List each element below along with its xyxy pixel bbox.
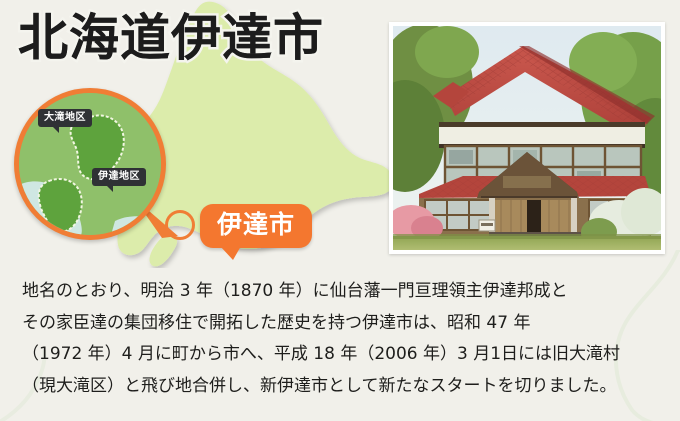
magnifier-target-ring	[165, 210, 195, 240]
city-badge: 伊達市	[200, 204, 312, 248]
photo-frame	[389, 22, 665, 254]
description-line-1: 地名のとおり、明治 3 年（1870 年）に仙台藩一門亘理領主伊達邦成と	[22, 276, 668, 308]
date-city-info-card: 大滝地区 伊達地区 伊達市 北海道伊達市 北海道伊達市	[0, 0, 680, 421]
district-label-otaki: 大滝地区	[38, 109, 92, 127]
house-photo	[393, 26, 661, 250]
description-line-3: （1972 年）4 月に町から市へ、平成 18 年（2006 年）3 月1日には…	[22, 339, 668, 371]
description-line-4: （現大滝区）と飛び地合併し、新伊達市として新たなスタートを切りました。	[22, 371, 668, 403]
description-line-2: その家臣達の集団移住で開拓した歴史を持つ伊達市は、昭和 47 年	[22, 308, 668, 340]
description-paragraph: 地名のとおり、明治 3 年（1870 年）に仙台藩一門亘理領主伊達邦成と その家…	[22, 276, 668, 402]
district-label-date: 伊達地区	[92, 168, 146, 186]
page-title: 北海道伊達市	[18, 10, 324, 66]
